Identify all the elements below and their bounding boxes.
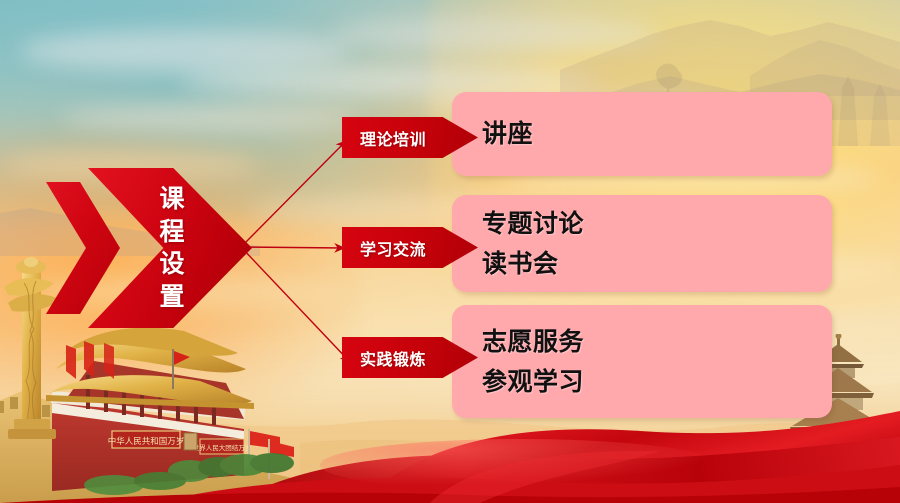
main-node-char-3: 设 <box>159 249 184 280</box>
content-panel-1[interactable]: 讲座 <box>452 92 832 176</box>
content-panel-3[interactable]: 志愿服务 参观学习 <box>452 305 832 418</box>
content-panel-2[interactable]: 专题讨论 读书会 <box>452 195 832 292</box>
content-panel-3-text: 志愿服务 参观学习 <box>482 305 818 418</box>
panel-item: 专题讨论 <box>482 206 818 242</box>
chevron-accent-icon <box>46 182 120 314</box>
slide-canvas: 中华人民共和国万岁 世界人民大团结万岁 <box>0 0 900 503</box>
panel-item: 读书会 <box>482 246 818 282</box>
main-node-chevron[interactable]: 课 程 设 置 <box>46 168 252 328</box>
panel-item: 志愿服务 <box>482 324 818 360</box>
content-panel-2-text: 专题讨论 读书会 <box>482 195 818 292</box>
content-panel-1-text: 讲座 <box>482 92 818 176</box>
branch-tag-3-label: 实践锻炼 <box>342 346 426 370</box>
panel-item: 参观学习 <box>482 364 818 400</box>
main-node-label: 课 程 设 置 <box>142 178 202 318</box>
main-node-char-1: 课 <box>159 184 184 215</box>
branch-tag-2-label: 学习交流 <box>342 236 426 260</box>
main-node-char-4: 置 <box>159 282 184 313</box>
panel-item: 讲座 <box>482 116 818 152</box>
branch-tag-1-label: 理论培训 <box>342 126 426 150</box>
main-node-char-2: 程 <box>159 217 184 248</box>
cloud-wisp <box>60 105 360 131</box>
cloud-wisp <box>20 30 350 72</box>
